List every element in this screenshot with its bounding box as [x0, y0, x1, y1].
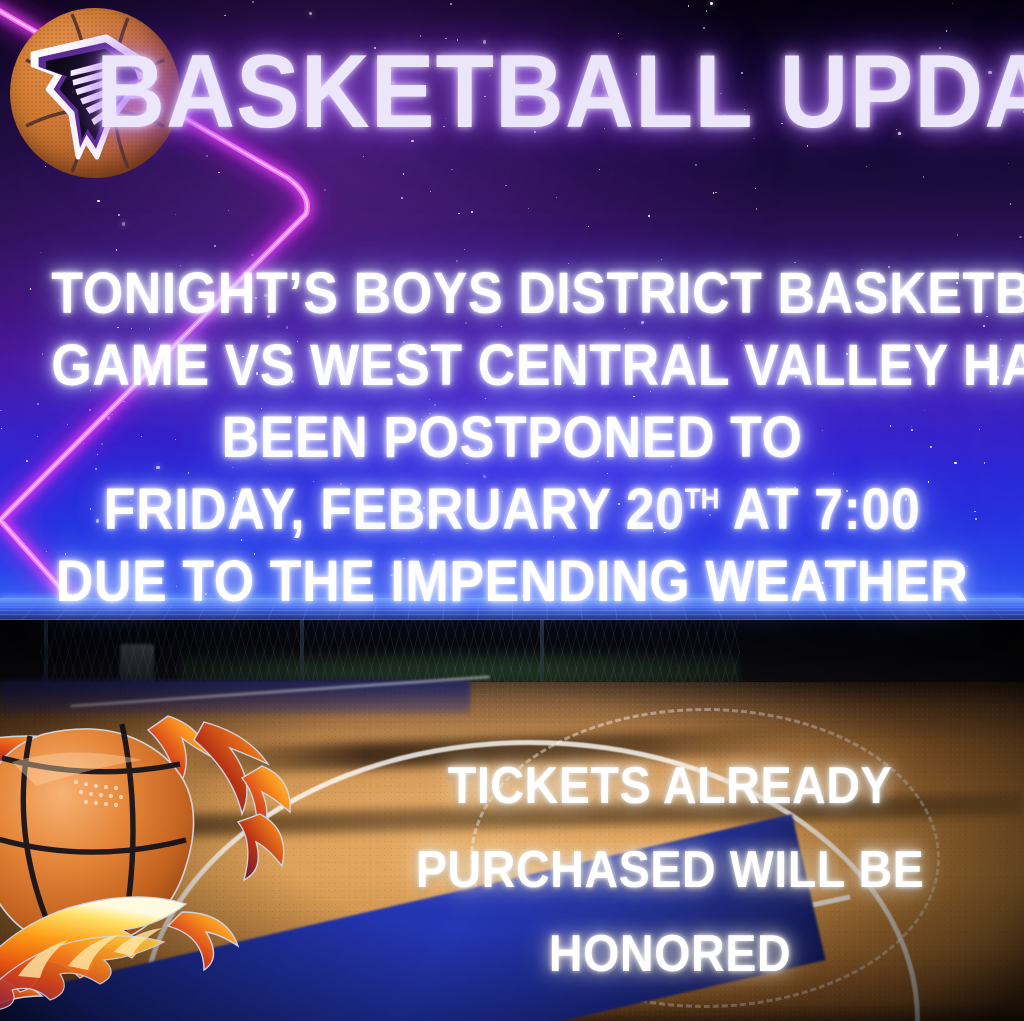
- reschedule-line: FRIDAY, FEBRUARY 20TH AT 7:00: [51, 474, 973, 546]
- flaming-basketball-icon: [0, 690, 332, 1021]
- announcement-line-1: TONIGHT’S BOYS DISTRICT BASKETBALL: [51, 258, 973, 330]
- announcement-block: TONIGHT’S BOYS DISTRICT BASKETBALL GAME …: [0, 258, 1024, 618]
- page-title: BASKETBALL UPDATE: [96, 40, 906, 144]
- poster-canvas: BASKETBALL UPDATE TONIGHT’S BOYS DISTRIC…: [0, 0, 1024, 1021]
- ticket-line-1: TICKETS ALREADY: [391, 744, 949, 828]
- announcement-line-2: GAME VS WEST CENTRAL VALLEY HAS: [51, 330, 973, 402]
- ticket-notice-block: TICKETS ALREADY PURCHASED WILL BE HONORE…: [360, 744, 980, 996]
- ordinal-suffix: TH: [685, 484, 720, 516]
- ticket-line-3: HONORED: [391, 912, 949, 996]
- ticket-line-2: PURCHASED WILL BE: [391, 828, 949, 912]
- announcement-line-3: BEEN POSTPONED TO: [51, 402, 973, 474]
- reason-line: DUE TO THE IMPENDING WEATHER: [51, 546, 973, 618]
- reschedule-day: FRIDAY, FEBRUARY 20: [104, 477, 685, 542]
- reschedule-time: AT 7:00: [719, 477, 920, 542]
